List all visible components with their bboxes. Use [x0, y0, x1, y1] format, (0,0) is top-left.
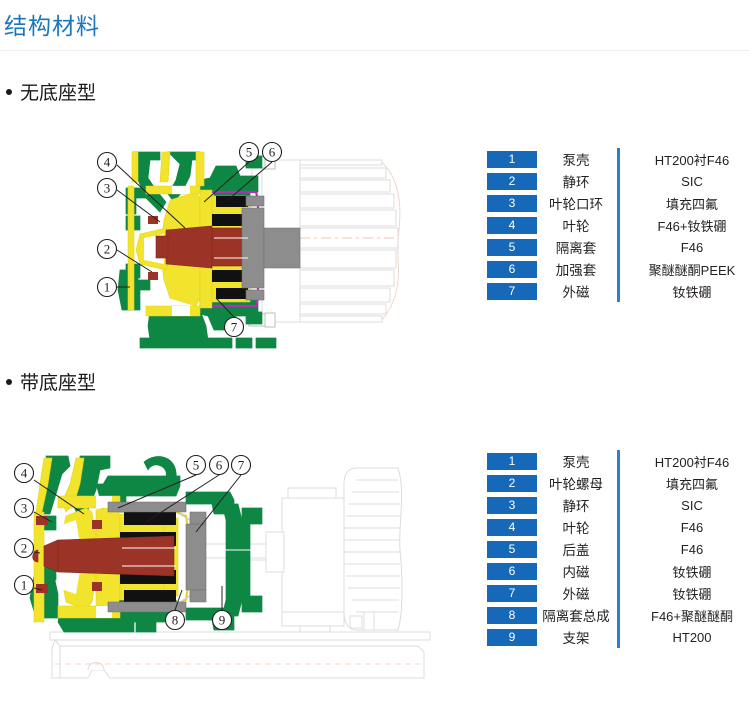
row-part-name: 外磁	[537, 583, 615, 603]
column-divider	[617, 280, 620, 302]
column-divider	[617, 192, 620, 214]
table-row: 7 外磁 钕铁硼	[487, 582, 750, 604]
table-row: 2 叶轮螺母 填充四氟	[487, 472, 750, 494]
title-divider	[0, 50, 750, 51]
row-material: F46	[628, 240, 750, 255]
row-material: SIC	[628, 174, 750, 189]
callout-5: 5	[187, 456, 206, 475]
column-divider	[617, 148, 620, 170]
table-row: 1 泵壳 HT200衬F46	[487, 148, 750, 170]
column-divider	[617, 626, 620, 648]
row-number-badge: 2	[487, 475, 537, 492]
row-material: 钕铁硼	[628, 584, 750, 603]
callout-1: 1	[15, 576, 34, 595]
section-heading-with-base: 带底座型	[6, 372, 96, 396]
callout-label: 9	[219, 613, 226, 628]
callout-label: 5	[193, 458, 200, 473]
column-divider	[617, 258, 620, 280]
column-divider	[617, 538, 620, 560]
column-divider	[617, 582, 620, 604]
row-material: SIC	[628, 498, 750, 513]
section-heading-label: 带底座型	[20, 373, 96, 394]
row-number-badge: 5	[487, 239, 537, 256]
material-table-no-base: 1 泵壳 HT200衬F46 2 静环 SIC 3 叶轮口环 填充四氟 4 叶轮…	[487, 148, 750, 302]
row-material: 钕铁硼	[628, 282, 750, 301]
callout-label: 6	[216, 458, 223, 473]
structural-materials-page: 结构材料 无底座型	[0, 0, 750, 709]
callout-3: 3	[15, 499, 34, 518]
callout-label: 4	[21, 466, 28, 481]
row-part-name: 叶轮	[537, 215, 615, 235]
row-material: F46+聚醚醚酮	[628, 606, 750, 625]
row-number-badge: 3	[487, 497, 537, 514]
row-part-name: 支架	[537, 627, 615, 647]
callout-label: 3	[21, 501, 28, 516]
column-divider	[617, 560, 620, 582]
callout-6: 6	[210, 456, 229, 475]
callout-7: 7	[225, 318, 244, 337]
shaft-assembly-2	[33, 536, 174, 576]
row-number-badge: 8	[487, 607, 537, 624]
callout-8: 8	[166, 611, 185, 630]
table-row: 2 静环 SIC	[487, 170, 750, 192]
table-row: 3 静环 SIC	[487, 494, 750, 516]
row-number-badge: 3	[487, 195, 537, 212]
section-heading-no-base: 无底座型	[6, 82, 96, 106]
bullet-icon	[6, 379, 12, 385]
callout-3: 3	[98, 179, 117, 198]
row-number-badge: 4	[487, 217, 537, 234]
row-number-badge: 4	[487, 519, 537, 536]
table-row: 1 泵壳 HT200衬F46	[487, 450, 750, 472]
row-material: 填充四氟	[628, 474, 750, 493]
table-row: 4 叶轮 F46+钕铁硼	[487, 214, 750, 236]
column-divider	[617, 450, 620, 472]
table-row: 6 内磁 钕铁硼	[487, 560, 750, 582]
pump-cross-section-with-base: 4 3 2 1 5 6 7	[0, 440, 470, 690]
row-part-name: 外磁	[537, 281, 615, 301]
row-material: HT200	[628, 630, 750, 645]
row-part-name: 泵壳	[537, 149, 615, 169]
column-divider	[617, 604, 620, 626]
column-divider	[617, 214, 620, 236]
row-part-name: 隔离套	[537, 237, 615, 257]
shaft-assembly	[156, 226, 242, 268]
column-divider	[617, 472, 620, 494]
row-part-name: 叶轮口环	[537, 193, 615, 213]
callout-1: 1	[98, 278, 117, 297]
callout-6: 6	[263, 143, 282, 162]
row-part-name: 静环	[537, 171, 615, 191]
row-material: 填充四氟	[628, 194, 750, 213]
row-part-name: 内磁	[537, 561, 615, 581]
material-table-with-base: 1 泵壳 HT200衬F46 2 叶轮螺母 填充四氟 3 静环 SIC 4 叶轮…	[487, 450, 750, 648]
callout-label: 2	[21, 541, 28, 556]
callout-4: 4	[98, 153, 117, 172]
callout-7: 7	[232, 456, 251, 475]
table-row: 5 后盖 F46	[487, 538, 750, 560]
row-part-name: 加强套	[537, 259, 615, 279]
row-part-name: 叶轮螺母	[537, 473, 615, 493]
column-divider	[617, 170, 620, 192]
row-number-badge: 1	[487, 151, 537, 168]
callout-label: 6	[269, 145, 276, 160]
table-row: 5 隔离套 F46	[487, 236, 750, 258]
callout-label: 5	[246, 145, 253, 160]
callout-9: 9	[213, 611, 232, 630]
row-part-name: 后盖	[537, 539, 615, 559]
callout-label: 1	[21, 578, 28, 593]
row-material: F46+钕铁硼	[628, 216, 750, 235]
row-material: F46	[628, 520, 750, 535]
row-number-badge: 7	[487, 283, 537, 300]
table-row: 3 叶轮口环 填充四氟	[487, 192, 750, 214]
callout-4: 4	[15, 464, 34, 483]
callout-label: 7	[238, 458, 245, 473]
table-row: 6 加强套 聚醚醚酮PEEK	[487, 258, 750, 280]
row-part-name: 隔离套总成	[537, 605, 615, 625]
callout-2: 2	[98, 240, 117, 259]
table-row: 8 隔离套总成 F46+聚醚醚酮	[487, 604, 750, 626]
callout-label: 7	[231, 320, 238, 335]
bullet-icon	[6, 89, 12, 95]
column-divider	[617, 516, 620, 538]
row-number-badge: 1	[487, 453, 537, 470]
row-number-badge: 9	[487, 629, 537, 646]
callout-label: 1	[104, 280, 111, 295]
row-material: HT200衬F46	[628, 452, 750, 471]
table-row: 7 外磁 钕铁硼	[487, 280, 750, 302]
row-number-badge: 6	[487, 261, 537, 278]
callout-5: 5	[240, 143, 259, 162]
column-divider	[617, 494, 620, 516]
callout-2: 2	[15, 539, 34, 558]
row-number-badge: 6	[487, 563, 537, 580]
row-part-name: 泵壳	[537, 451, 615, 471]
row-number-badge: 2	[487, 173, 537, 190]
row-material: 钕铁硼	[628, 562, 750, 581]
callout-label: 4	[104, 155, 111, 170]
table-row: 9 支架 HT200	[487, 626, 750, 648]
column-divider	[617, 236, 620, 258]
row-part-name: 静环	[537, 495, 615, 515]
callout-label: 8	[172, 613, 179, 628]
section-heading-label: 无底座型	[20, 83, 96, 104]
row-material: HT200衬F46	[628, 150, 750, 169]
callout-label: 2	[104, 242, 111, 257]
row-number-badge: 5	[487, 541, 537, 558]
pump-cross-section-no-base: 4 3 2 1 5 6 7	[0, 130, 470, 360]
baseplate-outline	[50, 632, 430, 678]
row-material: 聚醚醚酮PEEK	[628, 260, 750, 279]
motor-fan-housing	[344, 468, 402, 630]
row-number-badge: 7	[487, 585, 537, 602]
callout-label: 3	[104, 181, 111, 196]
row-part-name: 叶轮	[537, 517, 615, 537]
row-material: F46	[628, 542, 750, 557]
table-row: 4 叶轮 F46	[487, 516, 750, 538]
page-title: 结构材料	[4, 11, 100, 41]
